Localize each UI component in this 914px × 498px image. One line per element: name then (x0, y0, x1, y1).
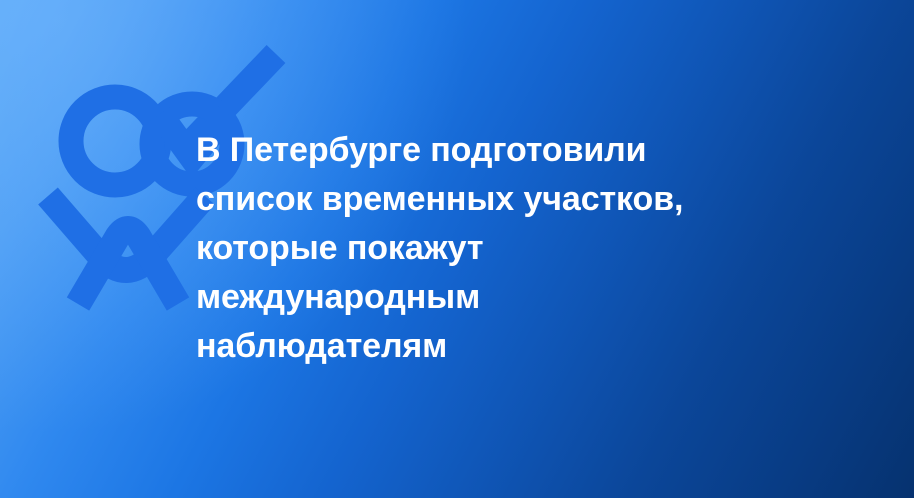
news-card: В Петербурге подготовили список временны… (0, 0, 914, 498)
headline-text: В Петербурге подготовили список временны… (196, 126, 726, 371)
